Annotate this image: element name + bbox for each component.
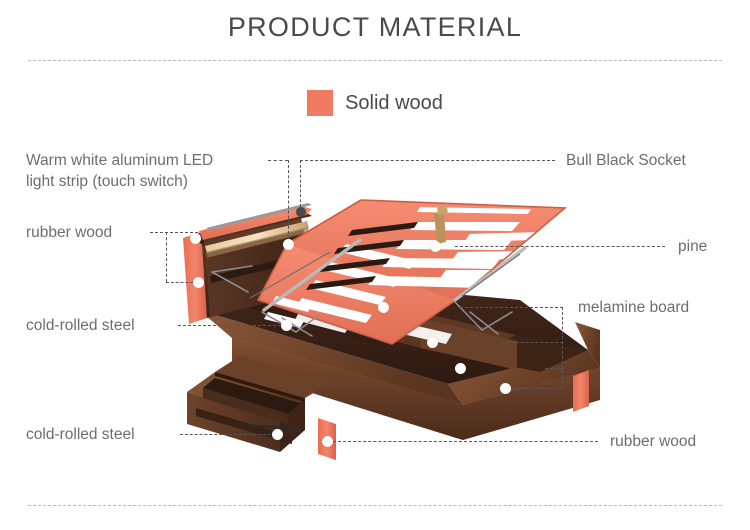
callout-melamine-board: melamine board xyxy=(578,297,738,318)
marker-dot-rubberwood-head-top xyxy=(190,233,201,244)
leader-melamine-h2 xyxy=(506,342,563,343)
callout-rubber-wood-bottom: rubber wood xyxy=(610,431,740,452)
leader-socket-vertical xyxy=(300,160,301,212)
leader-rubberwood-top-h1 xyxy=(150,232,198,233)
leader-rubberwood-top-v xyxy=(166,232,167,282)
leader-pine-horizontal xyxy=(455,246,665,247)
marker-dot-melamine-bottom xyxy=(500,383,511,394)
divider-bottom xyxy=(28,505,722,506)
marker-dot-led-strip xyxy=(283,239,294,250)
leader-steel-top-horizontal xyxy=(178,325,286,326)
leader-melamine-h1 xyxy=(460,307,563,308)
leader-led-vertical xyxy=(288,160,289,244)
leader-led-horizontal xyxy=(268,160,288,161)
callout-bull-black-socket: Bull Black Socket xyxy=(566,150,736,171)
divider-top xyxy=(28,60,722,61)
marker-dot-steel-drawer-slide xyxy=(272,429,283,440)
product-material-infographic: PRODUCT MATERIAL Solid wood xyxy=(0,0,750,530)
marker-dot-melamine-mid xyxy=(427,337,438,348)
marker-dot-rubberwood-head-bottom xyxy=(193,277,204,288)
page-title: PRODUCT MATERIAL xyxy=(0,12,750,43)
leader-melamine-h3 xyxy=(545,368,563,369)
marker-dot-rubberwood-post-bottom xyxy=(322,436,333,447)
marker-dot-steel-strut-left xyxy=(281,320,292,331)
legend-label-solid-wood: Solid wood xyxy=(345,92,443,115)
marker-dot-melamine-low xyxy=(455,363,466,374)
marker-dot-melamine-top xyxy=(378,302,389,313)
legend-swatch-solid-wood xyxy=(307,90,333,116)
callout-led-strip: Warm white aluminum LED light strip (tou… xyxy=(26,150,266,192)
callout-cold-rolled-steel-bottom: cold-rolled steel xyxy=(26,424,186,445)
leader-rubberwood-bottom-horizontal xyxy=(333,441,598,442)
leader-socket-horizontal xyxy=(300,160,555,161)
leader-melamine-h4 xyxy=(512,388,563,389)
leader-steel-bottom-horizontal xyxy=(180,434,276,435)
marker-dot-bull-black-socket xyxy=(296,207,306,217)
callout-pine: pine xyxy=(678,236,738,257)
leader-melamine-v xyxy=(562,307,563,388)
callout-rubber-wood-top: rubber wood xyxy=(26,222,156,243)
legend: Solid wood xyxy=(0,90,750,116)
callout-cold-rolled-steel-top: cold-rolled steel xyxy=(26,315,186,336)
marker-dot-pine-slats xyxy=(430,241,441,252)
